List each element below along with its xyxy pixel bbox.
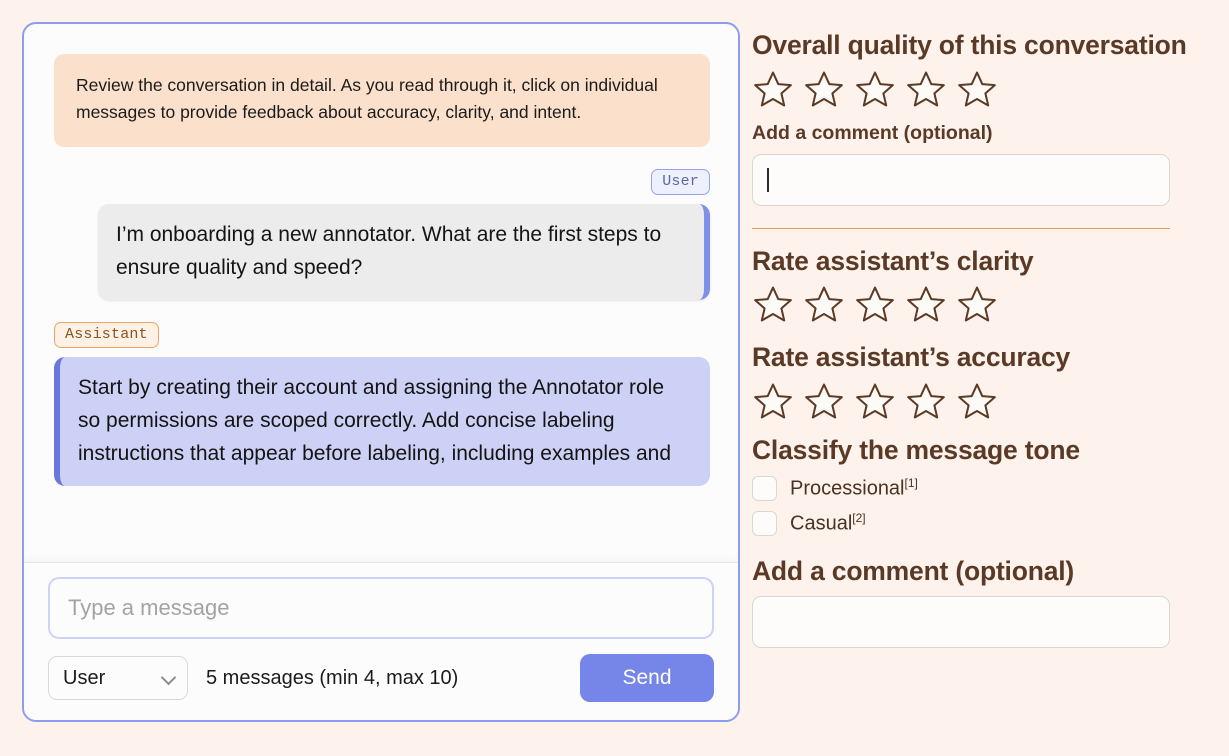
bubble-row-user: I’m onboarding a new annotator. What are… (54, 204, 710, 300)
shortcut-hint-processional: [1] (905, 476, 918, 490)
role-select-value: User (63, 667, 105, 690)
composer-toolbar: User 5 messages (min 4, max 10) Send (48, 654, 714, 702)
checkbox-row-processional[interactable]: Processional[1] (752, 476, 1201, 501)
message-composer: User 5 messages (min 4, max 10) Send (24, 562, 738, 720)
section-title-clarity: Rate assistant’s clarity (752, 246, 1201, 277)
star-icon-4[interactable] (905, 380, 947, 422)
star-icon-1[interactable] (752, 283, 794, 325)
section-title-message-tone: Classify the message tone (752, 435, 1201, 466)
role-badge-user: User (651, 169, 710, 195)
role-row-assistant: Assistant (54, 322, 710, 348)
star-icon-3[interactable] (854, 68, 896, 110)
message-bubble-assistant[interactable]: Start by creating their account and assi… (54, 357, 710, 487)
instructions-banner: Review the conversation in detail. As yo… (54, 54, 710, 147)
section-divider (752, 228, 1170, 229)
comment-label-message-tone: Add a comment (optional) (752, 556, 1201, 587)
checkbox-row-casual[interactable]: Casual[2] (752, 511, 1201, 536)
checkbox-processional[interactable] (752, 476, 777, 501)
comment-input-message-tone[interactable] (752, 596, 1170, 648)
review-section-accuracy: Rate assistant’s accuracy (752, 342, 1201, 422)
checkbox-label-text-processional: Processional (790, 478, 905, 500)
star-icon-5[interactable] (956, 283, 998, 325)
message-user[interactable]: User I’m onboarding a new annotator. Wha… (54, 169, 710, 300)
comment-input-overall-quality[interactable] (752, 154, 1170, 206)
shortcut-hint-casual: [2] (852, 511, 865, 525)
star-icon-5[interactable] (956, 380, 998, 422)
text-caret (767, 168, 769, 192)
role-badge-assistant: Assistant (54, 322, 159, 348)
section-title-overall-quality: Overall quality of this conversation (752, 30, 1201, 61)
checkbox-label-text-casual: Casual (790, 513, 852, 535)
app-root: Review the conversation in detail. As yo… (0, 0, 1229, 756)
checkbox-label-casual: Casual[2] (790, 511, 866, 536)
message-assistant[interactable]: Assistant Start by creating their accoun… (54, 322, 710, 487)
role-select[interactable]: User (48, 656, 188, 700)
star-rating-clarity[interactable] (752, 283, 1201, 325)
review-section-clarity: Rate assistant’s clarity (752, 246, 1201, 326)
role-row-user: User (54, 169, 710, 195)
checkbox-casual[interactable] (752, 511, 777, 536)
send-button[interactable]: Send (580, 654, 714, 702)
message-input[interactable] (48, 577, 714, 639)
star-rating-overall-quality[interactable] (752, 68, 1201, 110)
star-icon-3[interactable] (854, 283, 896, 325)
section-title-accuracy: Rate assistant’s accuracy (752, 342, 1201, 373)
bubble-row-assistant: Start by creating their account and assi… (54, 357, 710, 487)
star-icon-1[interactable] (752, 68, 794, 110)
star-icon-2[interactable] (803, 68, 845, 110)
star-icon-4[interactable] (905, 283, 947, 325)
checkbox-label-processional: Processional[1] (790, 476, 918, 501)
conversation-panel: Review the conversation in detail. As yo… (22, 22, 740, 722)
message-count-label: 5 messages (min 4, max 10) (206, 667, 562, 690)
star-icon-3[interactable] (854, 380, 896, 422)
star-icon-2[interactable] (803, 283, 845, 325)
review-section-message-tone: Classify the message tone Processional[1… (752, 435, 1201, 647)
star-icon-5[interactable] (956, 68, 998, 110)
star-icon-4[interactable] (905, 68, 947, 110)
message-bubble-user[interactable]: I’m onboarding a new annotator. What are… (98, 204, 710, 300)
star-rating-accuracy[interactable] (752, 380, 1201, 422)
review-section-overall-quality: Overall quality of this conversation Add… (752, 30, 1201, 206)
review-sidebar: Overall quality of this conversation Add… (740, 0, 1229, 756)
comment-label-overall-quality: Add a comment (optional) (752, 122, 1201, 145)
star-icon-2[interactable] (803, 380, 845, 422)
chevron-down-icon (161, 670, 177, 686)
star-icon-1[interactable] (752, 380, 794, 422)
